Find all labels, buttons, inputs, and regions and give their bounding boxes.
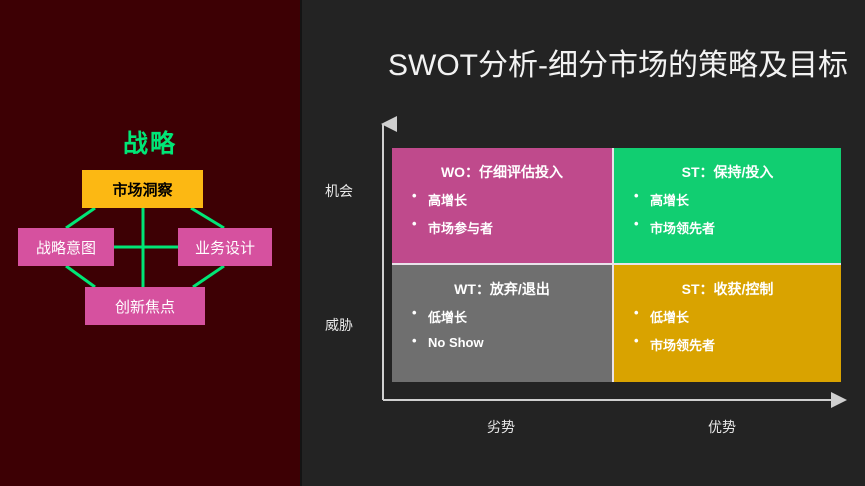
node-label: 市场洞察 (112, 179, 172, 200)
quadrant-wo[interactable]: WO：仔细评估投入 • 高增长 • 市场参与者 (392, 148, 614, 265)
swot-matrix: WO：仔细评估投入 • 高增长 • 市场参与者 ST：保持/投入 • 高增长 (392, 148, 841, 382)
bullet-icon: • (634, 217, 639, 230)
list-item-label: 高增长 (428, 193, 467, 208)
list-item: • 市场参与者 (428, 218, 602, 237)
bullet-icon: • (634, 189, 639, 202)
node-strategic-intent[interactable]: 战略意图 (18, 228, 114, 266)
node-label: 业务设计 (195, 237, 255, 258)
quadrant-items: • 低增长 • 市场领先者 (624, 307, 831, 354)
list-item-label: No Show (428, 335, 484, 350)
node-label: 战略意图 (36, 237, 96, 258)
node-innovation-focus[interactable]: 创新焦点 (85, 287, 205, 325)
node-business-design[interactable]: 业务设计 (178, 228, 272, 266)
quadrant-items: • 低增长 • No Show (402, 307, 602, 350)
quadrant-heading: ST：保持/投入 (624, 162, 831, 182)
quadrant-items: • 高增长 • 市场领先者 (624, 190, 831, 237)
bullet-icon: • (412, 334, 417, 347)
quadrant-st-hold[interactable]: ST：保持/投入 • 高增长 • 市场领先者 (614, 148, 841, 265)
list-item: • No Show (428, 335, 602, 350)
slide-canvas: 战略 市场洞察 战略意图 业务设计 创新焦点 SWOT分析-细分市场的策略及目标 (0, 0, 865, 486)
list-item-label: 高增长 (650, 193, 689, 208)
list-item: • 市场领先者 (650, 335, 831, 354)
bullet-icon: • (634, 334, 639, 347)
list-item-label: 低增长 (428, 310, 467, 325)
bullet-icon: • (412, 217, 417, 230)
node-label: 创新焦点 (115, 296, 175, 317)
quadrant-st-harvest[interactable]: ST：收获/控制 • 低增长 • 市场领先者 (614, 265, 841, 382)
bullet-icon: • (634, 306, 639, 319)
quadrant-items: • 高增长 • 市场参与者 (402, 190, 602, 237)
quadrant-heading: WO：仔细评估投入 (402, 162, 602, 182)
list-item-label: 市场领先者 (650, 338, 715, 353)
list-item: • 市场领先者 (650, 218, 831, 237)
list-item: • 低增长 (428, 307, 602, 326)
list-item: • 高增长 (428, 190, 602, 209)
quadrant-heading: ST：收获/控制 (624, 279, 831, 299)
list-item-label: 市场领先者 (650, 221, 715, 236)
bullet-icon: • (412, 189, 417, 202)
list-item: • 高增长 (650, 190, 831, 209)
list-item-label: 市场参与者 (428, 221, 493, 236)
quadrant-wt[interactable]: WT：放弃/退出 • 低增长 • No Show (392, 265, 614, 382)
list-item: • 低增长 (650, 307, 831, 326)
node-market-insight[interactable]: 市场洞察 (82, 170, 203, 208)
bullet-icon: • (412, 306, 417, 319)
list-item-label: 低增长 (650, 310, 689, 325)
quadrant-heading: WT：放弃/退出 (402, 279, 602, 299)
